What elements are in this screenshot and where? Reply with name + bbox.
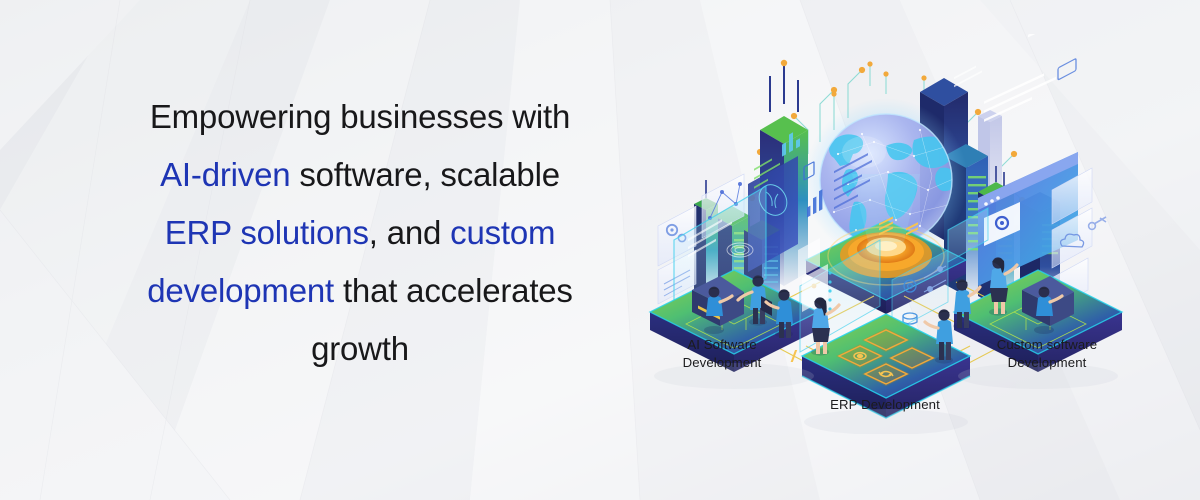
monitor-icon (1058, 58, 1076, 80)
skirt (812, 328, 830, 342)
isometric-city-illustration (648, 34, 1124, 434)
headline-block: Empowering businesses with AI-driven sof… (58, 88, 662, 378)
caption-ai-line2: Development (648, 354, 796, 372)
antenna-group-left (770, 66, 798, 112)
headline-line-1: Empowering businesses with (150, 98, 570, 135)
caption-custom-line2: Development (962, 354, 1132, 372)
headline-line-5: growth (311, 330, 409, 367)
headline-line-4: that accelerates (343, 272, 573, 309)
page-title: Empowering businesses with AI-driven sof… (58, 88, 662, 378)
skirt (990, 288, 1008, 302)
headline-accent-custom: custom (450, 214, 555, 251)
headline-line-2: software, scalable (299, 156, 560, 193)
caption-custom-line1: Custom software (962, 336, 1132, 354)
hero-banner: Empowering businesses with AI-driven sof… (0, 0, 1200, 500)
headline-accent-development: development (147, 272, 334, 309)
caption-erp-line1: ERP Development (800, 396, 970, 414)
caption-ai-line1: AI Software (648, 336, 796, 354)
headline-accent-erp: ERP solutions (165, 214, 369, 251)
caption-ai-software-development: AI Software Development (648, 336, 796, 372)
antenna-light (781, 60, 787, 66)
caption-custom-software-development: Custom software Development (962, 336, 1132, 372)
caption-erp-development: ERP Development (800, 396, 970, 414)
headline-line-3: , and (369, 214, 450, 251)
headline-accent-ai: AI-driven (160, 156, 290, 193)
